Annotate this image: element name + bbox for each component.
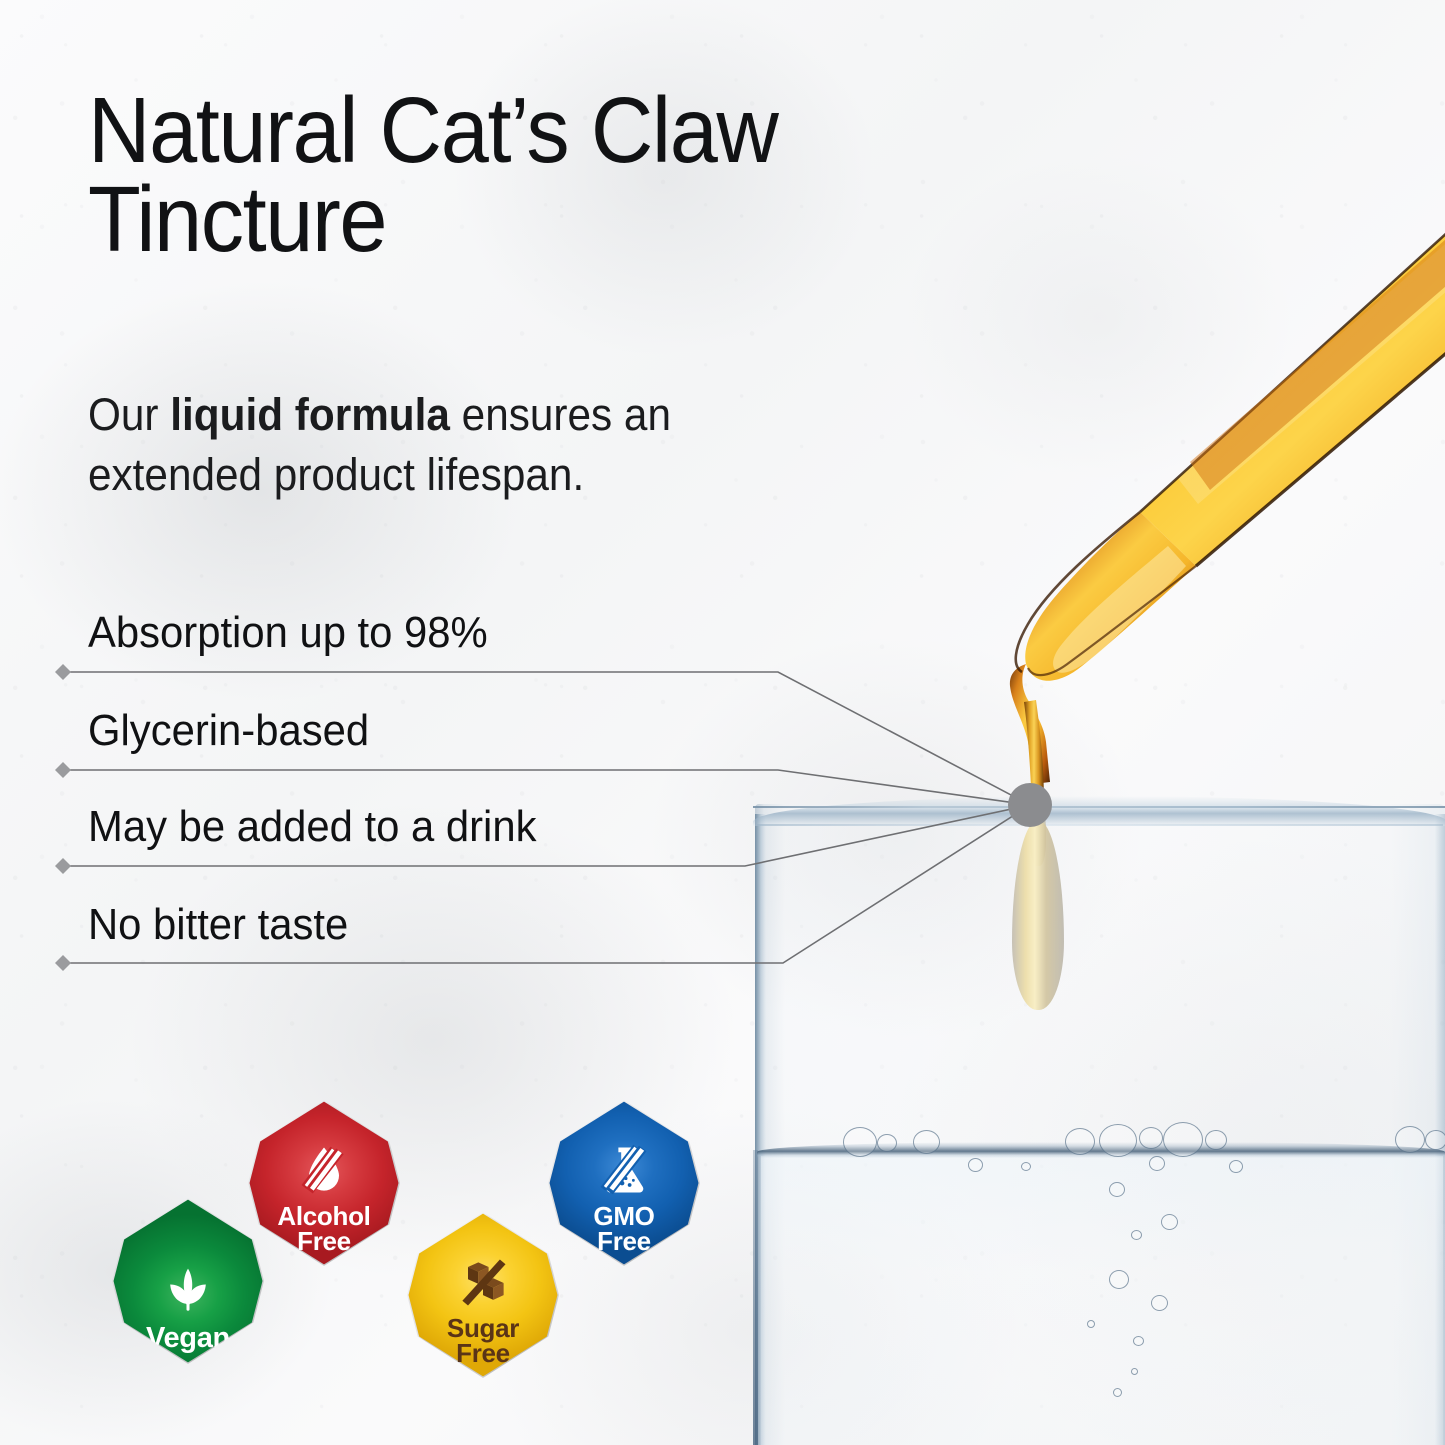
badge-vegan[interactable]: Vegan — [112, 1198, 264, 1364]
badge-gmo-free[interactable]: GMO Free — [548, 1100, 700, 1266]
badge-sugar-free[interactable]: Sugar Free — [407, 1212, 559, 1378]
badge-label-vegan: Vegan — [146, 1324, 230, 1352]
badge-alcohol-free[interactable]: Alcohol Free — [248, 1100, 400, 1266]
certification-badges: Vegan Alcohol Free — [0, 0, 1445, 1445]
badge-label-sugar-free: Sugar Free — [447, 1316, 519, 1366]
no-sugar-cubes-icon — [453, 1252, 513, 1312]
leaf-icon — [158, 1262, 218, 1322]
infographic-canvas: Natural Cat’s Claw Tincture Our liquid f… — [0, 0, 1445, 1445]
badge-label-gmo-free: GMO Free — [593, 1204, 654, 1254]
badge-label-alcohol-free: Alcohol Free — [277, 1204, 370, 1254]
no-flask-icon — [594, 1140, 654, 1200]
no-droplet-icon — [294, 1140, 354, 1200]
